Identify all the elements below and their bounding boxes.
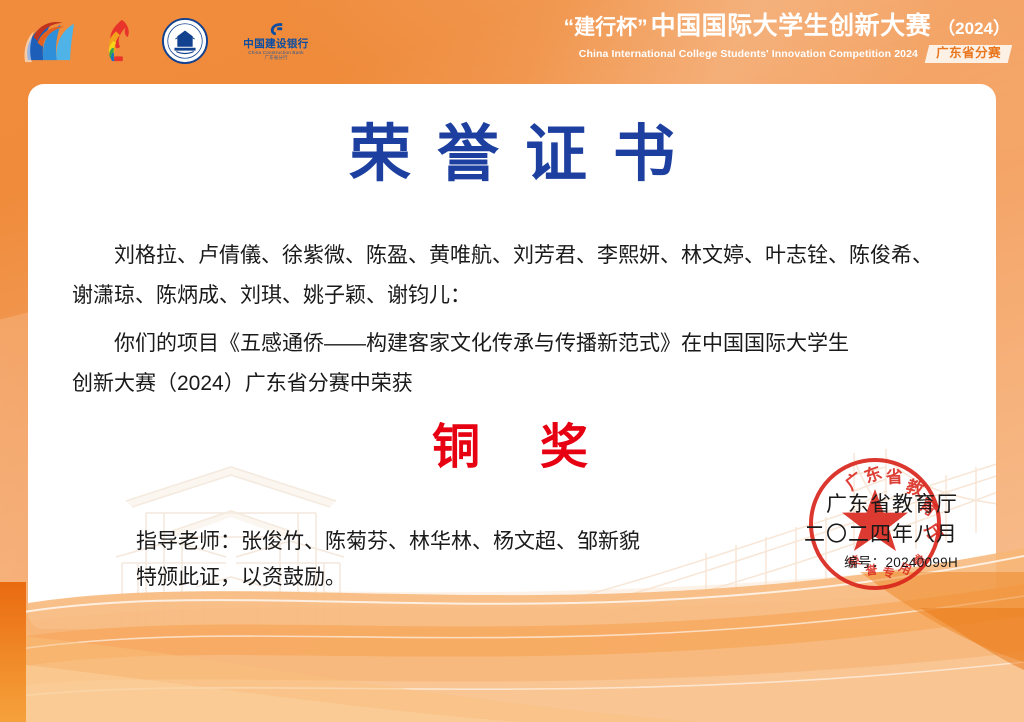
award-level-second-char: 奖 xyxy=(540,421,592,474)
page-header: 中国建设银行 China Construction Bank 广东省分行 “建行… xyxy=(0,0,1024,80)
competition-title-year: （2024） xyxy=(938,20,1010,37)
sponsor-logo-row: 中国建设银行 China Construction Bank 广东省分行 xyxy=(22,16,322,66)
university-seal-logo xyxy=(162,18,208,64)
certificate-card: 荣誉证书 刘格拉、卢倩儀、徐紫微、陈盈、黄唯航、刘芳君、李熙妍、林文婷、叶志铨、… xyxy=(28,84,996,629)
ccb-branch-name: 广东省分行 xyxy=(265,56,288,61)
certificate-footer: 指导老师：张俊竹、陈菊芬、林华林、杨文超、邹新貌 特颁此证，以资鼓励。 xyxy=(136,524,640,596)
competition-title-row: “建行杯” 中国国际大学生创新大赛 （2024） xyxy=(564,14,1010,39)
ccb-chinese-name: 中国建设银行 xyxy=(243,39,308,50)
left-orange-tab xyxy=(0,582,26,722)
body-spacer xyxy=(72,316,956,324)
torch-flame-logo xyxy=(102,18,140,64)
competition-title-block: “建行杯” 中国国际大学生创新大赛 （2024） China Internati… xyxy=(564,14,1010,63)
certificate-page: 中国建设银行 China Construction Bank 广东省分行 “建行… xyxy=(0,0,1024,722)
competition-subtitle-row: China International College Students' In… xyxy=(564,45,1010,63)
issuing-authority: 广东省教育厅 xyxy=(748,490,958,520)
award-level: 铜奖 xyxy=(28,424,996,472)
competition-sponsor-cup: “建行杯” xyxy=(564,17,648,38)
issue-date: 二〇二四年八月 xyxy=(748,520,958,550)
competition-wave-logo xyxy=(22,18,80,64)
project-line-2: 创新大赛（2024）广东省分赛中荣获 xyxy=(72,364,956,404)
advisors-line: 指导老师：张俊竹、陈菊芬、林华林、杨文超、邹新貌 xyxy=(136,524,640,560)
university-seal-icon xyxy=(162,18,208,64)
ccb-bank-logo: 中国建设银行 China Construction Bank 广东省分行 xyxy=(230,18,322,64)
recipients-line-1: 刘格拉、卢倩儀、徐紫微、陈盈、黄唯航、刘芳君、李熙妍、林文婷、叶志铨、陈俊希、 xyxy=(72,236,956,276)
certificate-title: 荣誉证书 xyxy=(28,124,996,186)
wave-emblem-icon xyxy=(22,18,80,64)
closing-line: 特颁此证，以资鼓励。 xyxy=(136,560,640,596)
province-division-badge: 广东省分赛 xyxy=(925,45,1012,63)
project-line-1: 你们的项目《五感通侨——构建客家文化传承与传播新范式》在中国国际大学生 xyxy=(72,324,956,364)
ccb-mark-icon xyxy=(268,21,285,38)
competition-title-english: China International College Students' In… xyxy=(579,49,918,60)
award-level-first-char: 铜 xyxy=(432,421,484,474)
signature-block: 广东省教育厅 二〇二四年八月 编号：20240099H xyxy=(748,490,958,575)
competition-title-main: 中国国际大学生创新大赛 xyxy=(651,14,932,39)
certificate-serial-number: 编号：20240099H xyxy=(748,551,958,575)
certificate-body: 刘格拉、卢倩儀、徐紫微、陈盈、黄唯航、刘芳君、李熙妍、林文婷、叶志铨、陈俊希、 … xyxy=(72,236,956,404)
province-division-badge-label: 广东省分赛 xyxy=(936,47,1001,60)
recipients-line-2: 谢潇琼、陈炳成、刘琪、姚子颖、谢钧儿： xyxy=(72,276,956,316)
torch-icon xyxy=(102,18,136,64)
